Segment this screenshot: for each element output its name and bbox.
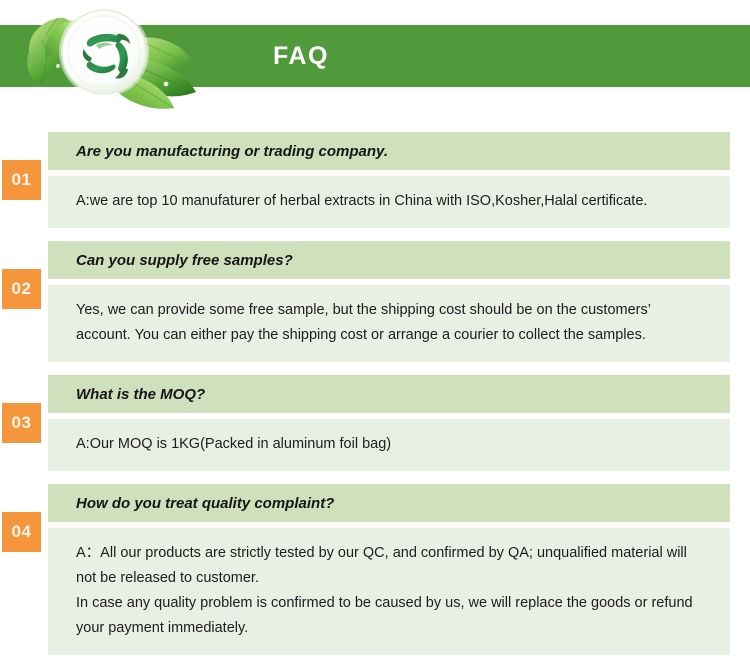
- logo-disc: [59, 7, 149, 97]
- faq-item: 04 How do you treat quality complaint? A…: [0, 484, 750, 655]
- faq-number-badge: 04: [2, 512, 41, 552]
- faq-number-badge: 02: [2, 269, 41, 309]
- page-title: FAQ: [273, 40, 329, 72]
- faq-item: 02 Can you supply free samples? Yes, we …: [0, 241, 750, 362]
- faq-body: Are you manufacturing or trading company…: [48, 132, 730, 228]
- faq-answer-line: A：All our products are strictly tested b…: [76, 541, 708, 591]
- faq-question[interactable]: Are you manufacturing or trading company…: [48, 132, 730, 170]
- faq-body: How do you treat quality complaint? A：Al…: [48, 484, 730, 655]
- faq-answer: A:Our MOQ is 1KG(Packed in aluminum foil…: [48, 419, 730, 471]
- faq-body: Can you supply free samples? Yes, we can…: [48, 241, 730, 362]
- faq-number-badge: 01: [2, 160, 41, 200]
- faq-list: 01 Are you manufacturing or trading comp…: [0, 132, 750, 668]
- page-header: FAQ: [0, 0, 750, 120]
- faq-question[interactable]: Can you supply free samples?: [48, 241, 730, 279]
- faq-answer: A：All our products are strictly tested b…: [48, 528, 730, 655]
- leaf-recycle-logo: [18, 0, 233, 115]
- faq-item: 01 Are you manufacturing or trading comp…: [0, 132, 750, 228]
- faq-answer-line: A:we are top 10 manufaturer of herbal ex…: [76, 189, 708, 214]
- faq-question[interactable]: What is the MOQ?: [48, 375, 730, 413]
- faq-body: What is the MOQ? A:Our MOQ is 1KG(Packed…: [48, 375, 730, 471]
- faq-answer: Yes, we can provide some free sample, bu…: [48, 285, 730, 362]
- faq-answer-line: Yes, we can provide some free sample, bu…: [76, 298, 708, 348]
- faq-item: 03 What is the MOQ? A:Our MOQ is 1KG(Pac…: [0, 375, 750, 471]
- faq-question[interactable]: How do you treat quality complaint?: [48, 484, 730, 522]
- faq-answer-line: In case any quality problem is confirmed…: [76, 591, 708, 641]
- faq-answer-line: A:Our MOQ is 1KG(Packed in aluminum foil…: [76, 432, 708, 457]
- faq-answer: A:we are top 10 manufaturer of herbal ex…: [48, 176, 730, 228]
- faq-number-badge: 03: [2, 403, 41, 443]
